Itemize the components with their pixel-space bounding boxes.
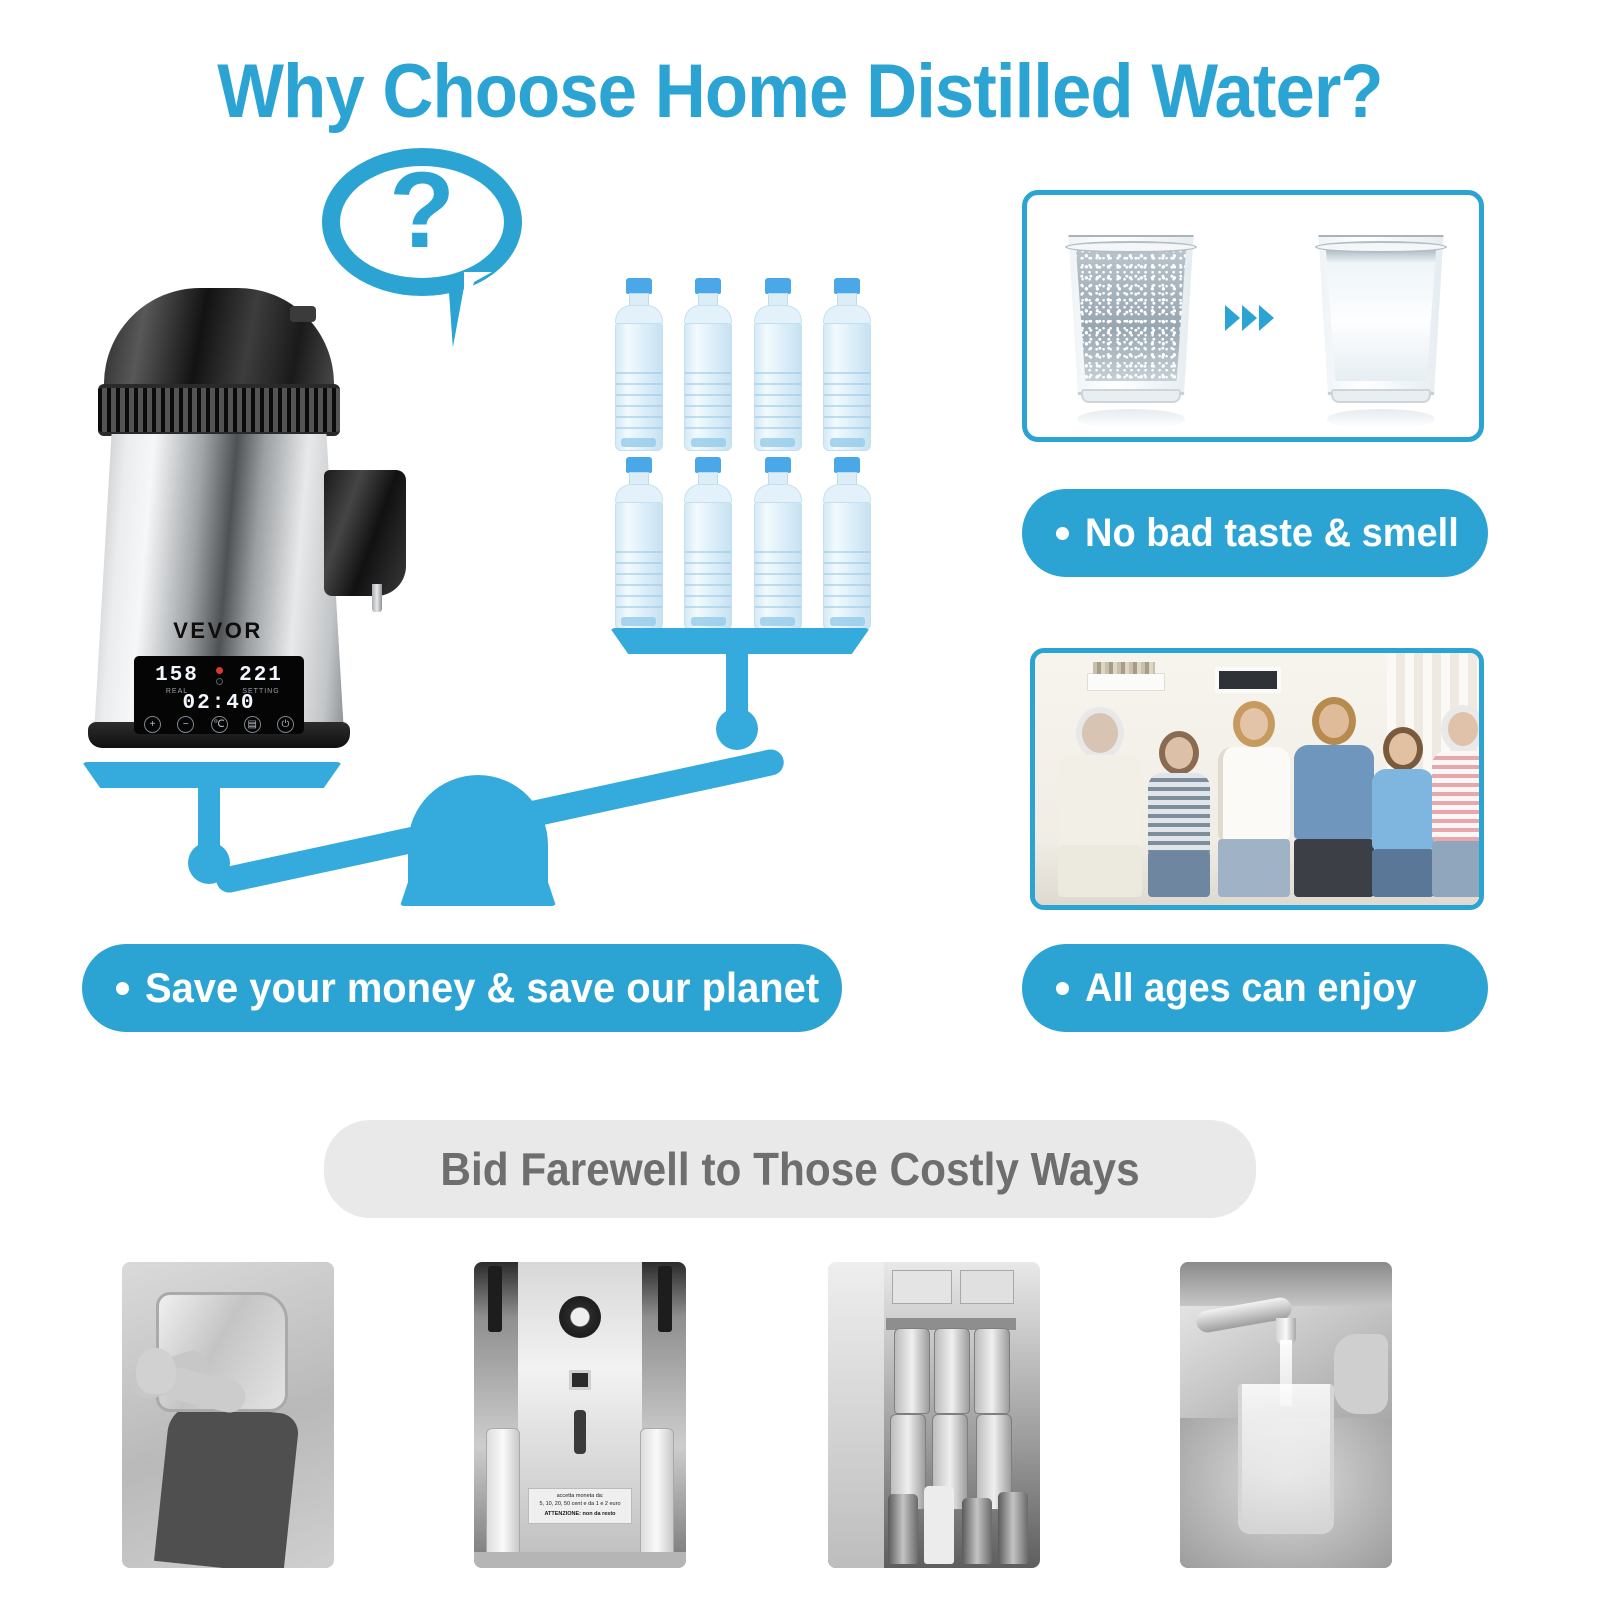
vending-floor [474,1552,686,1568]
hanging-bottle-3 [974,1328,1010,1414]
plastic-water-bottle-icon [817,457,879,630]
bottle-cap [765,278,791,294]
distiller-vent-ring [98,384,340,436]
photo-water-vending-machine: accetta moneta da: 5, 10, 20, 50 cent e … [474,1262,686,1568]
cloudy-tap-water-glass [1055,235,1207,407]
bottle-cap [626,457,652,473]
banner-label: Bid Farewell to Those Costly Ways [440,1142,1139,1196]
bottle-body [684,502,732,630]
bottle-body [754,502,802,630]
torso [1218,747,1290,839]
vending-coin-return [574,1410,586,1454]
bottle-shoulder [615,484,663,504]
triple-chevron-right-icon [1225,305,1274,331]
person-girl [1147,731,1211,897]
person-mother [1217,701,1291,897]
distiller-lid [104,288,334,396]
bottle-shoulder [684,484,732,504]
bottle-body [754,323,802,451]
bottle-cap [695,457,721,473]
head [1441,705,1484,753]
seesaw-left-pivot [188,842,230,884]
man-hand [136,1348,176,1394]
badge-no-bad-taste: No bad taste & smell [1022,489,1488,577]
badge-label: Save your money & save our planet [145,964,819,1012]
head [1076,707,1124,759]
torso [1294,745,1374,839]
glass-base-right [1331,389,1431,403]
distiller-lid-knob [290,306,316,322]
glass-bottle-left [486,1428,520,1558]
sign-line-3: ATTENZIONE: non da resto [531,1511,629,1519]
bottle-body [823,502,871,630]
clear-distilled-water-glass [1305,235,1457,407]
person-father [1293,697,1375,897]
plastic-water-bottle-icon [817,278,879,451]
photo-man-carrying-water-jug [122,1262,334,1568]
head [1383,727,1423,771]
store-sign-2 [960,1270,1014,1304]
legs [1372,849,1434,897]
bottle-ribs [755,551,801,609]
plastic-water-bottle-icon [747,457,809,630]
plastic-water-bottle-icon [608,457,670,630]
hanging-bottle-1 [894,1328,930,1414]
legs [1058,845,1142,897]
drinking-glass [1238,1384,1334,1534]
bullet-icon [1056,527,1069,540]
store-sign-1 [892,1270,952,1304]
bottle-bottom [830,438,865,447]
bottle-ribs [685,551,731,609]
torso [1372,769,1434,849]
person-boy [1371,727,1435,897]
bottle-grid [608,278,878,630]
plastic-bottles-group [608,278,878,630]
books-on-shelf [1093,662,1155,674]
clear-water-fill [1321,247,1441,381]
costly-ways-photo-strip: accetta moneta da: 5, 10, 20, 50 cent e … [0,1262,1600,1582]
vending-dial [559,1296,601,1338]
legs [1432,841,1484,897]
legs [1218,839,1290,897]
photo-tap-filling-glass [1180,1262,1392,1568]
bullet-icon [116,982,129,995]
seesaw-foot [400,878,556,906]
wall-shelf [1087,673,1165,691]
bottle-body [823,323,871,451]
vending-coin-slot [569,1370,591,1390]
bottle-ribs [616,551,662,609]
floor-bottle-3 [962,1498,992,1564]
glass-rim-right [1315,241,1447,253]
costly-ways-banner: Bid Farewell to Those Costly Ways [324,1120,1256,1218]
bottle-bottom [760,438,795,447]
bottle-shoulder [684,305,732,325]
badge-all-ages: All ages can enjoy [1022,944,1488,1032]
store-wall [828,1262,884,1568]
wall-picture-frame [1215,667,1281,693]
vending-tap-left [488,1266,502,1332]
bottle-body [684,323,732,451]
hanging-bottle-2 [934,1328,970,1414]
sign-line-1: accetta moneta da: [531,1493,629,1501]
seesaw-right-pivot [716,708,758,750]
question-mark-glyph: ? [322,156,522,264]
distiller-spout-tip [372,584,382,612]
bottle-bottom [691,438,726,447]
person-grandmother [1431,705,1484,897]
glass-base-left [1081,389,1181,403]
sign-line-2: 5, 10, 20, 50 cent e da 1 e 2 euro [531,1501,629,1509]
head [1159,731,1199,775]
bottle-body [615,502,663,630]
bottle-shoulder [615,305,663,325]
vending-price-sign: accetta moneta da: 5, 10, 20, 50 cent e … [528,1488,632,1524]
badge-label: All ages can enjoy [1085,966,1417,1011]
floor-bottle-2 [924,1486,954,1564]
photo-store-bottled-water-shelves [828,1262,1040,1568]
badge-save-money: Save your money & save our planet [82,944,842,1032]
head [1312,697,1356,745]
bullet-icon [1056,982,1069,995]
glass-reflection-right [1327,409,1435,429]
cloudy-water-fill [1071,247,1191,381]
bottle-ribs [824,372,870,430]
family-on-sofa-photo [1030,648,1484,910]
water-comparison-panel [1022,190,1484,442]
bottle-ribs [824,551,870,609]
chevron-3 [1259,305,1274,331]
vending-tap-right [658,1266,672,1332]
chevron-2 [1242,305,1257,331]
bubble-tail-inner [464,272,492,320]
bottle-shoulder [754,484,802,504]
bottle-cap [765,457,791,473]
torso [1058,755,1142,851]
head [1233,701,1275,747]
glass-bottle-right [640,1428,674,1558]
bottle-cap [626,278,652,294]
hand-holding-glass [1334,1334,1388,1414]
plastic-water-bottle-icon [678,457,740,630]
infographic-page: Why Choose Home Distilled Water? ? VEVOR… [0,0,1600,1600]
person-grandfather [1057,707,1143,897]
bottle-cap [834,278,860,294]
bottle-ribs [616,372,662,430]
page-title: Why Choose Home Distilled Water? [56,48,1544,135]
bottle-shoulder [823,484,871,504]
plastic-water-bottle-icon [608,278,670,451]
legs [1148,851,1210,897]
legs [1294,839,1374,897]
glass-rim-left [1065,241,1197,253]
plastic-water-bottle-icon [678,278,740,451]
bottle-cap [834,457,860,473]
balance-seesaw-icon [80,620,880,920]
man-torso [154,1402,300,1568]
floor-bottle-4 [998,1492,1028,1564]
glass-reflection-left [1077,409,1185,429]
chevron-1 [1225,305,1240,331]
bottle-shoulder [823,305,871,325]
bottle-cap [695,278,721,294]
plastic-water-bottle-icon [747,278,809,451]
floor-bottle-1 [888,1494,918,1564]
bottle-shoulder [754,305,802,325]
distiller-spout [324,470,406,596]
bottle-body [615,323,663,451]
bottle-ribs [755,372,801,430]
torso [1148,773,1210,855]
bottle-ribs [685,372,731,430]
badge-label: No bad taste & smell [1085,511,1459,556]
bottle-bottom [621,438,656,447]
torso [1432,751,1484,841]
